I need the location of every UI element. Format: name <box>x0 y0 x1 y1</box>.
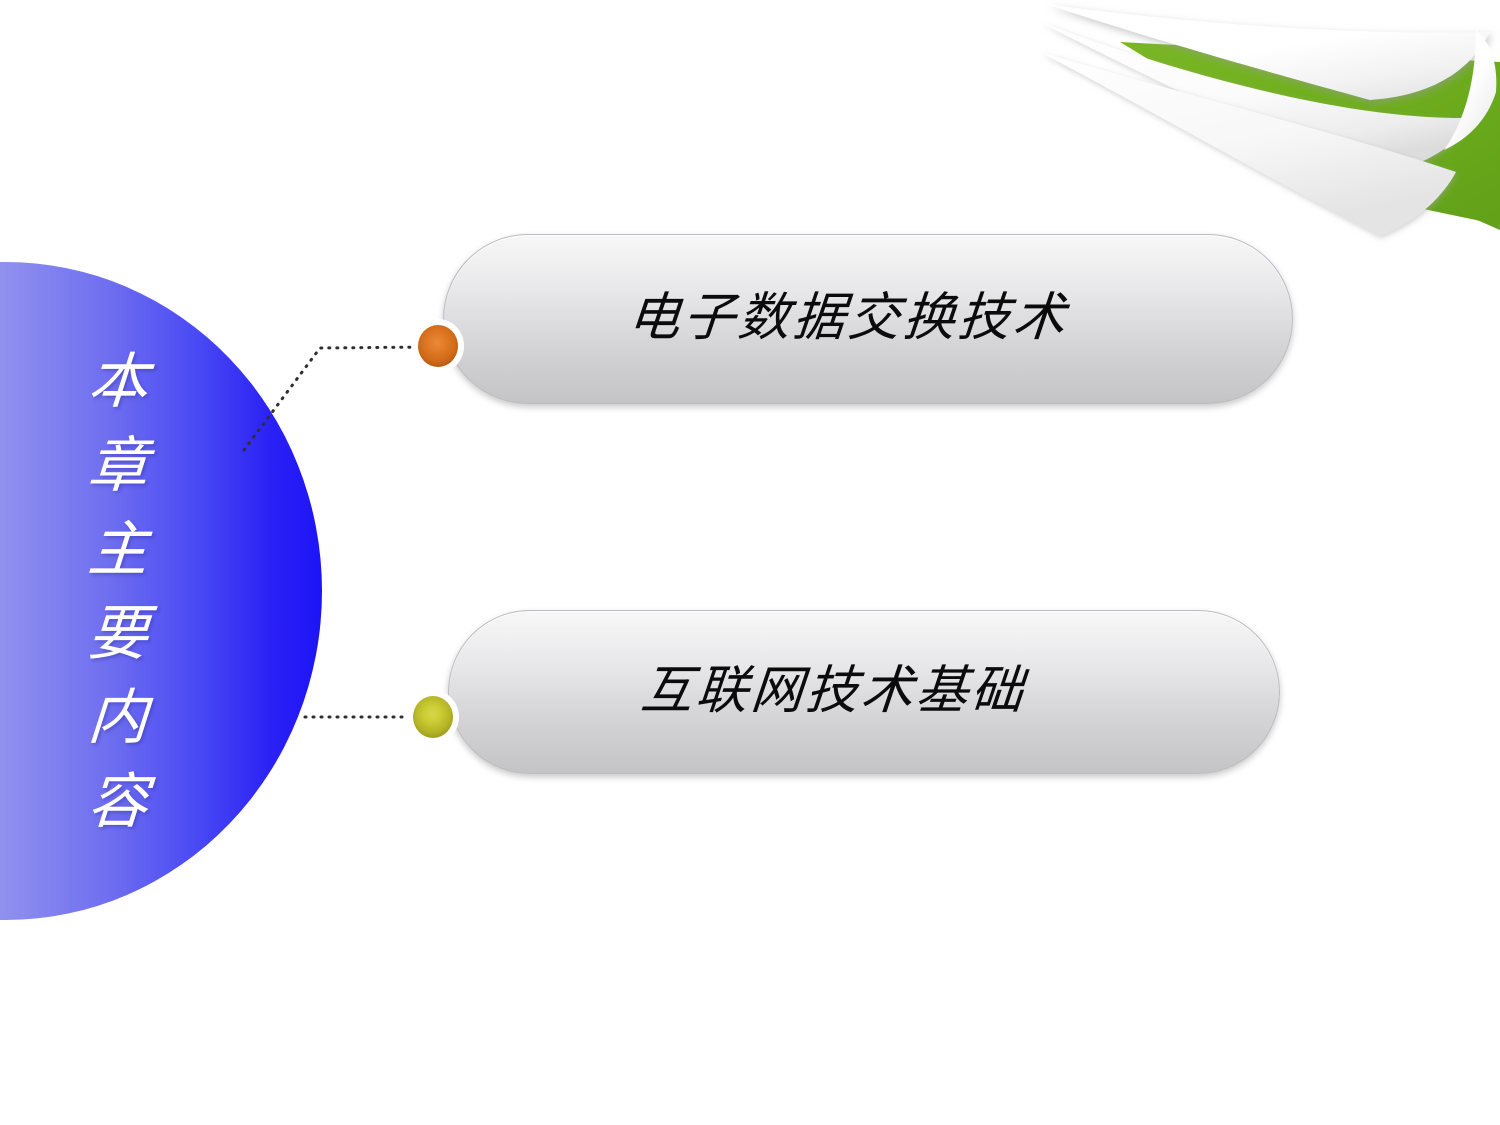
title-char-1: 本 <box>86 352 150 412</box>
title-char-2: 章 <box>86 436 150 496</box>
title-char-5: 内 <box>86 688 150 748</box>
bullet-marker-olive-icon[interactable] <box>413 696 453 738</box>
content-item-1-label: 电子数据交换技术 <box>626 293 1111 345</box>
paper-sheet-bottom <box>1040 52 1456 236</box>
content-item-2[interactable]: 互联网技术基础 <box>448 610 1280 774</box>
paper-fold-right <box>1444 30 1496 150</box>
page-title-vertical: 本 章 主 要 内 容 <box>72 352 164 832</box>
peeled-paper-corner-decoration <box>1040 0 1500 270</box>
paper-sheet-top <box>1046 4 1490 100</box>
content-item-1[interactable]: 电子数据交换技术 <box>443 234 1293 404</box>
bullet-marker-orange-icon[interactable] <box>418 325 458 367</box>
corner-green-wedge-2 <box>1140 46 1500 230</box>
content-item-2-label: 互联网技术基础 <box>639 666 1089 718</box>
slide-canvas: 本 章 主 要 内 容 电子数据交换技术 互联网技术基础 <box>0 0 1500 1125</box>
title-char-3: 主 <box>86 520 150 580</box>
corner-green-wedge <box>1120 42 1500 225</box>
title-char-4: 要 <box>86 604 150 664</box>
paper-sheet-middle <box>1040 22 1470 176</box>
title-char-6: 容 <box>86 772 150 832</box>
